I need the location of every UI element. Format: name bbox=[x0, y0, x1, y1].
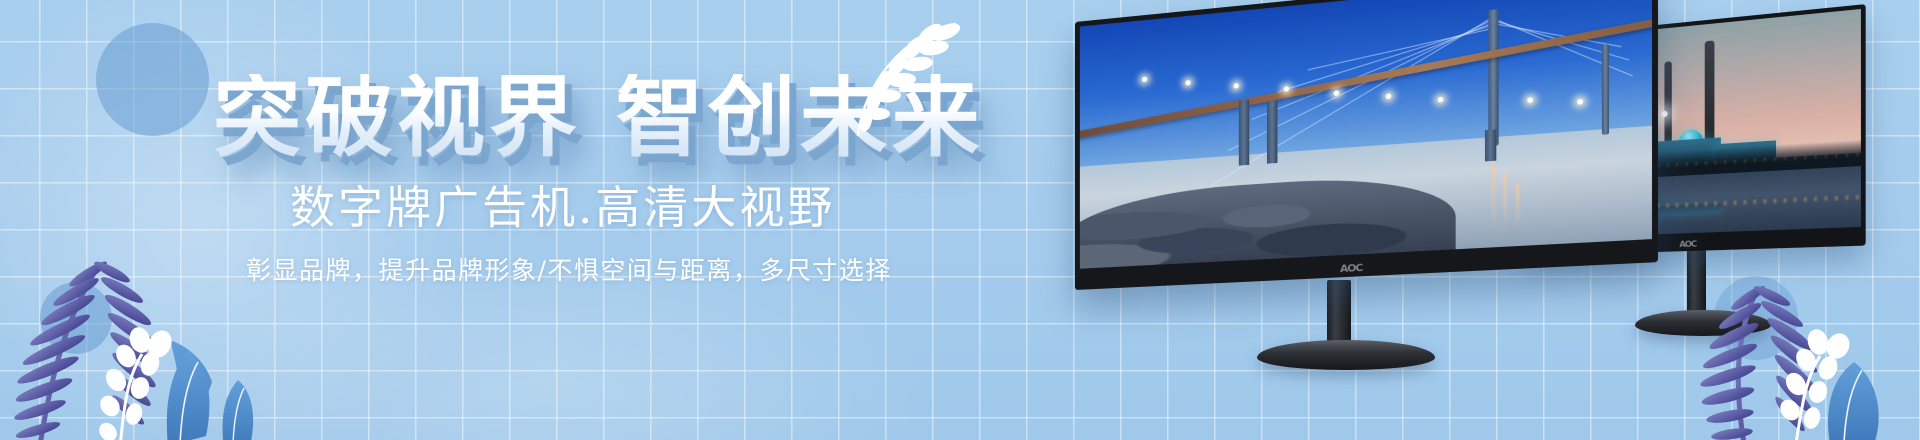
monitor-base bbox=[1635, 310, 1771, 336]
monitor-screen-front bbox=[1080, 0, 1652, 269]
tagline: 彰显品牌，提升品牌形象/不惧空间与距离，多尺寸选择 bbox=[246, 258, 892, 283]
subtitle: 数字牌广告机.高清大视野 bbox=[290, 185, 835, 230]
monitor-front: AOC bbox=[1075, 22, 1635, 352]
product-stage: AOC bbox=[1075, 0, 1920, 440]
copy-block: 突破视界 智创未来 数字牌广告机.高清大视野 彰显品牌，提升品牌形象/不惧空间与… bbox=[0, 0, 900, 440]
page-title: 突破视界 智创未来 bbox=[213, 74, 984, 162]
bridge-at-dusk-wallpaper bbox=[1080, 0, 1652, 269]
monitor-base bbox=[1257, 340, 1435, 370]
monitor-panel: AOC bbox=[1075, 0, 1658, 290]
product-banner: 突破视界 智创未来 数字牌广告机.高清大视野 彰显品牌，提升品牌形象/不惧空间与… bbox=[0, 0, 1920, 440]
